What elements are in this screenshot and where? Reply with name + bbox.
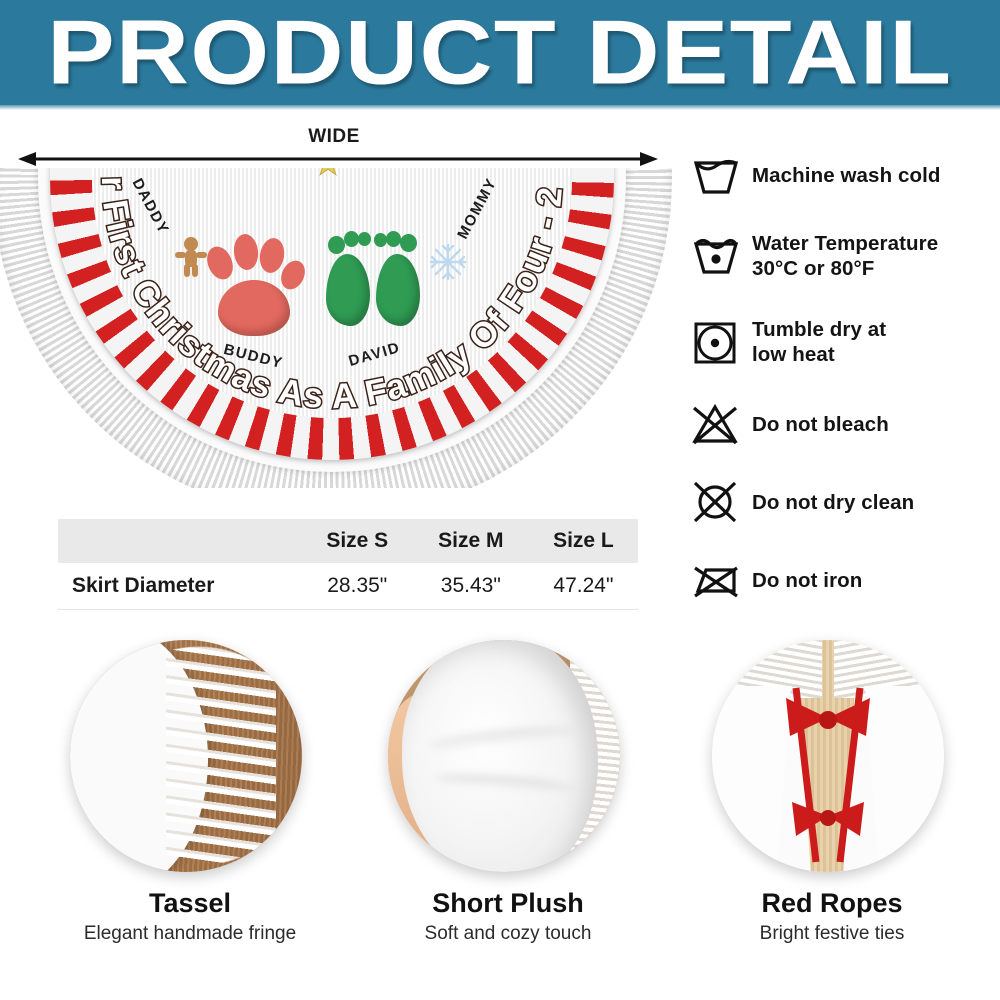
care-label-do-not-iron: Do not iron bbox=[752, 568, 862, 593]
care-label-water-temperature: Water Temperature 30°C or 80°F bbox=[752, 231, 938, 281]
care-instructions-list: Machine wash cold Water Temperature 30°C… bbox=[690, 138, 995, 619]
care-item-do-not-dry-clean: Do not dry clean bbox=[690, 463, 995, 541]
product-image-tree-skirt: Our First Christmas As A Family Of Four … bbox=[0, 168, 672, 488]
page-title-text: PRODUCT DETAIL bbox=[47, 7, 952, 98]
double-headed-arrow-icon bbox=[18, 150, 658, 168]
water-temperature-icon bbox=[690, 235, 752, 277]
care-item-do-not-iron: Do not iron bbox=[690, 541, 995, 619]
care-label-machine-wash: Machine wash cold bbox=[752, 163, 941, 188]
column-header-size-m: Size M bbox=[413, 519, 529, 563]
banner-divider bbox=[0, 105, 1000, 110]
snowflake-icon bbox=[428, 242, 468, 282]
feature-image-short-plush bbox=[388, 640, 620, 872]
feature-tassel: Tassel Elegant handmade fringe bbox=[70, 640, 310, 945]
feature-title-red-ropes: Red Ropes bbox=[712, 888, 952, 919]
feature-subtitle-tassel: Elegant handmade fringe bbox=[70, 923, 310, 945]
column-header-size-s: Size S bbox=[302, 519, 413, 563]
feature-title-tassel: Tassel bbox=[70, 888, 310, 919]
tree-skirt-graphic: Our First Christmas As A Family Of Four … bbox=[0, 168, 672, 488]
care-label-do-not-bleach: Do not bleach bbox=[752, 412, 889, 437]
care-item-water-temperature: Water Temperature 30°C or 80°F bbox=[690, 213, 995, 299]
feature-title-short-plush: Short Plush bbox=[388, 888, 628, 919]
feature-red-ropes: Red Ropes Bright festive ties bbox=[712, 640, 952, 945]
gingerbread-man-icon bbox=[174, 236, 208, 278]
size-chart-table: Size S Size M Size L Skirt Diameter 28.3… bbox=[58, 519, 638, 610]
care-item-do-not-bleach: Do not bleach bbox=[690, 385, 995, 463]
page-header-banner: PRODUCT DETAIL bbox=[0, 0, 1000, 105]
cell-diameter-m: 35.43" bbox=[413, 563, 529, 610]
wide-measure-label: WIDE bbox=[0, 126, 668, 148]
column-header-attribute bbox=[58, 519, 302, 563]
table-header-row: Size S Size M Size L bbox=[58, 519, 638, 563]
feature-image-red-ropes bbox=[712, 640, 944, 872]
star-icon bbox=[314, 168, 342, 178]
pawprint-buddy bbox=[200, 230, 310, 340]
feature-image-tassel bbox=[70, 640, 302, 872]
cell-diameter-l: 47.24" bbox=[529, 563, 638, 610]
feature-subtitle-short-plush: Soft and cozy touch bbox=[388, 923, 628, 945]
care-item-machine-wash: Machine wash cold bbox=[690, 138, 995, 213]
footprint-david bbox=[322, 230, 442, 350]
feature-short-plush: Short Plush Soft and cozy touch bbox=[388, 640, 628, 945]
cell-diameter-s: 28.35" bbox=[302, 563, 413, 610]
row-label-skirt-diameter: Skirt Diameter bbox=[58, 563, 302, 610]
column-header-size-l: Size L bbox=[529, 519, 638, 563]
care-label-tumble-dry: Tumble dry at low heat bbox=[752, 317, 886, 367]
table-row: Skirt Diameter 28.35" 35.43" 47.24" bbox=[58, 563, 638, 610]
care-label-do-not-dry-clean: Do not dry clean bbox=[752, 490, 914, 515]
page-title: PRODUCT DETAIL bbox=[0, 10, 1000, 96]
do-not-iron-icon bbox=[690, 558, 752, 602]
machine-wash-icon bbox=[690, 155, 752, 197]
do-not-dry-clean-icon bbox=[690, 480, 752, 524]
tumble-dry-low-icon bbox=[690, 320, 752, 364]
do-not-bleach-icon bbox=[690, 402, 752, 446]
care-item-tumble-dry: Tumble dry at low heat bbox=[690, 299, 995, 385]
feature-subtitle-red-ropes: Bright festive ties bbox=[712, 923, 952, 945]
